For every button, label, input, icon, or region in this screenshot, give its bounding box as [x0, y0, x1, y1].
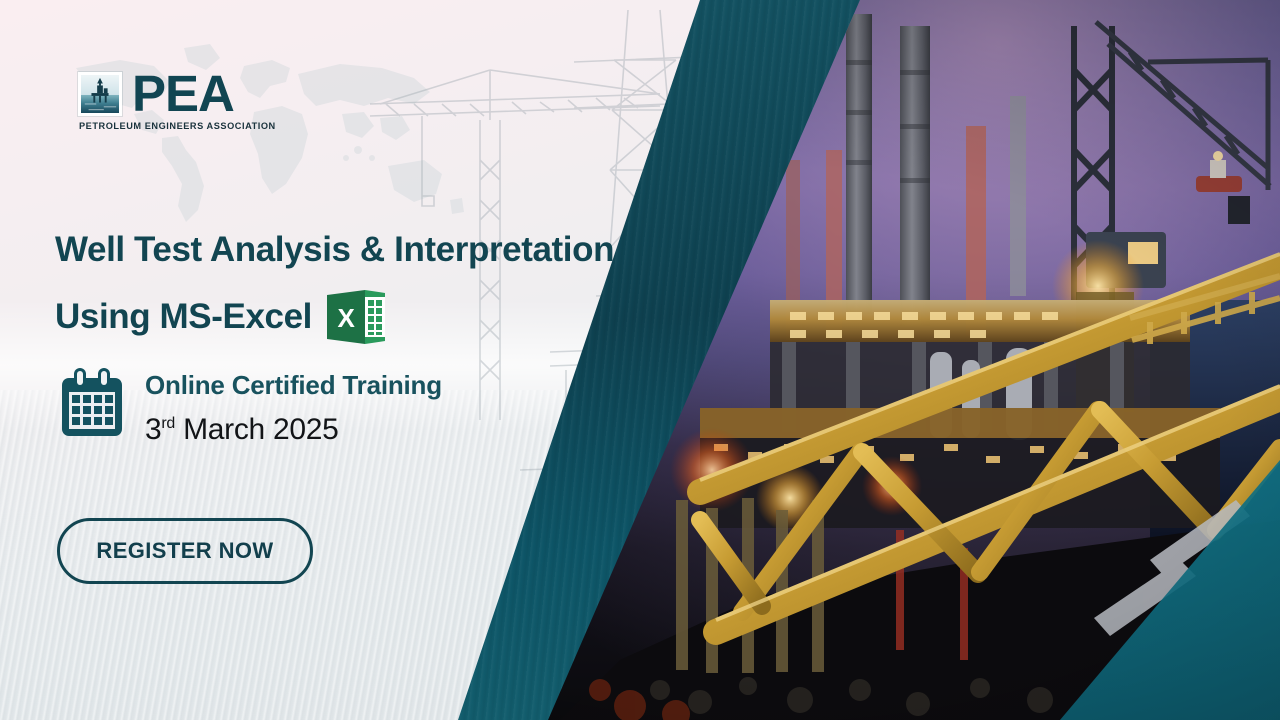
- calendar-icon: [58, 366, 126, 442]
- excel-icon-letter: X: [337, 303, 355, 333]
- pea-acronym: PEA: [132, 72, 276, 116]
- event-date-day: 3: [145, 413, 161, 446]
- event-date-rest: March 2025: [175, 413, 338, 446]
- headline: Well Test Analysis & Interpretation Usin…: [55, 228, 715, 345]
- microsoft-excel-icon: X: [325, 289, 387, 345]
- headline-line-1: Well Test Analysis & Interpretation: [55, 228, 715, 272]
- event-date-ordinal: rd: [161, 415, 175, 432]
- event-date-text: Online Certified Training 3rd March 2025: [145, 366, 442, 447]
- offshore-oil-platform-icon: [78, 72, 122, 116]
- pea-full-name: PETROLEUM ENGINEERS ASSOCIATION: [79, 121, 276, 131]
- headline-line-2: Using MS-Excel: [55, 295, 312, 339]
- event-date-block: Online Certified Training 3rd March 2025: [58, 366, 442, 447]
- headline-line-2-row: Using MS-Excel X: [55, 289, 715, 345]
- register-now-label: REGISTER NOW: [96, 538, 273, 564]
- event-type: Online Certified Training: [145, 370, 442, 400]
- register-now-button[interactable]: REGISTER NOW: [57, 518, 313, 584]
- pea-logo[interactable]: PEA PETROLEUM ENGINEERS ASSOCIATION: [78, 72, 276, 131]
- event-date: 3rd March 2025: [145, 407, 442, 447]
- promo-banner: PEA PETROLEUM ENGINEERS ASSOCIATION Well…: [0, 0, 1280, 720]
- banner-content: PEA PETROLEUM ENGINEERS ASSOCIATION Well…: [0, 0, 1280, 720]
